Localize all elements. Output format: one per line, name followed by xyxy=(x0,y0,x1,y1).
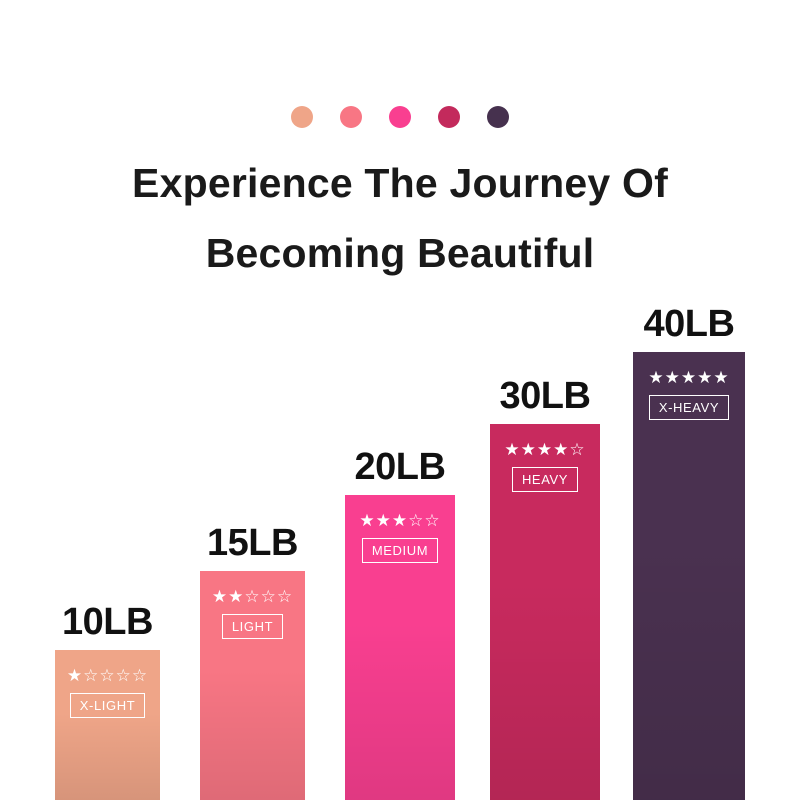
bar-weight-label: 30LB xyxy=(500,374,591,418)
bar-column: ★★★★★X-HEAVY xyxy=(633,352,745,800)
bar-weight-label: 20LB xyxy=(355,445,446,489)
bar-group-40lb[interactable]: 40LB★★★★★X-HEAVY xyxy=(633,352,745,800)
bar-group-15lb[interactable]: 15LB★★☆☆☆LIGHT xyxy=(200,571,305,800)
bar-gradient-overlay xyxy=(345,495,455,800)
bar-weight-label: 10LB xyxy=(62,600,153,644)
bar-column: ★★★★☆HEAVY xyxy=(490,424,600,800)
bar-group-20lb[interactable]: 20LB★★★☆☆MEDIUM xyxy=(345,495,455,800)
bar-group-10lb[interactable]: 10LB★☆☆☆☆X-LIGHT xyxy=(55,650,160,800)
bar-weight-label: 15LB xyxy=(207,521,298,565)
bar-weight-label: 40LB xyxy=(644,302,735,346)
resistance-bar-chart: 10LB★☆☆☆☆X-LIGHT15LB★★☆☆☆LIGHT20LB★★★☆☆M… xyxy=(0,0,800,800)
bar-column: ★★★☆☆MEDIUM xyxy=(345,495,455,800)
bar-gradient-overlay xyxy=(633,352,745,800)
bar-gradient-overlay xyxy=(490,424,600,800)
product-resistance-chart-page: Experience The Journey Of Becoming Beaut… xyxy=(0,0,800,800)
bar-gradient-overlay xyxy=(200,571,305,800)
bar-group-30lb[interactable]: 30LB★★★★☆HEAVY xyxy=(490,424,600,800)
bar-column: ★☆☆☆☆X-LIGHT xyxy=(55,650,160,800)
bar-column: ★★☆☆☆LIGHT xyxy=(200,571,305,800)
bar-gradient-overlay xyxy=(55,650,160,800)
